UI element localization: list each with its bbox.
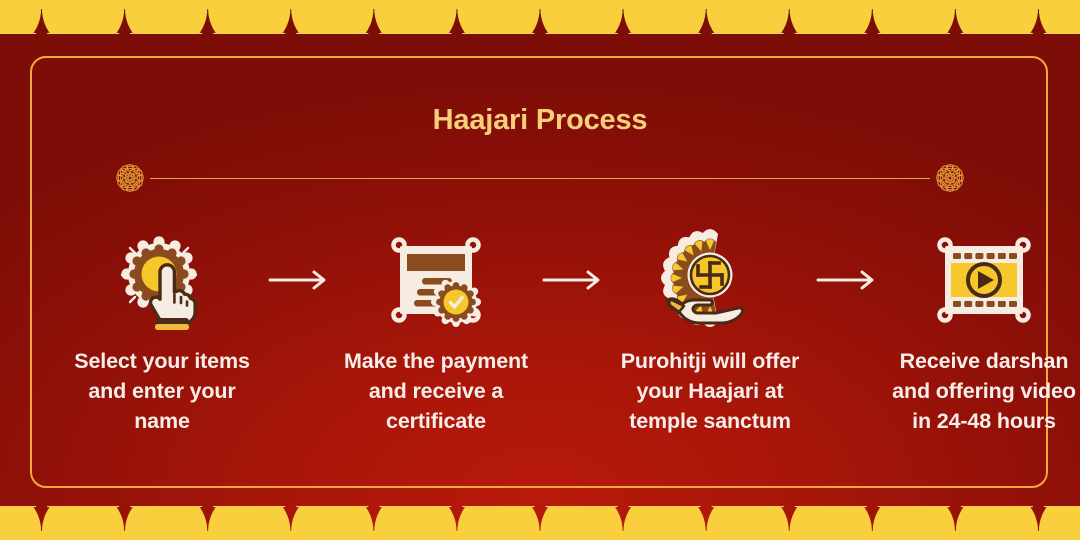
certificate-seal-icon [384, 228, 488, 332]
arrow-right-icon [264, 228, 334, 332]
step-2-label: Make the payment and receive a certifica… [344, 346, 528, 436]
bottom-scallop-border [0, 506, 1080, 540]
step-4-label: Receive darshan and offering video in 24… [892, 346, 1076, 436]
divider-rule [150, 178, 930, 179]
arrow-right-icon [812, 228, 882, 332]
step-3-label: Purohitji will offer your Haajari at tem… [621, 346, 800, 436]
step-3-purohitji-offering[interactable]: Purohitji will offer your Haajari at tem… [608, 228, 812, 436]
step-1-select-items[interactable]: Select your items and enter your name [60, 228, 264, 436]
mandala-icon [112, 160, 148, 196]
offering-hand-swastika-icon [658, 228, 762, 332]
step-4-receive-video[interactable]: Receive darshan and offering video in 24… [882, 228, 1080, 436]
hand-tap-select-icon [110, 228, 214, 332]
process-steps: Select your items and enter your name [60, 228, 1020, 436]
top-scallop-border [0, 0, 1080, 34]
arrow-right-icon [538, 228, 608, 332]
mandala-icon [932, 160, 968, 196]
step-1-label: Select your items and enter your name [74, 346, 250, 436]
page-title: Haajari Process [0, 104, 1080, 137]
step-2-payment-certificate[interactable]: Make the payment and receive a certifica… [334, 228, 538, 436]
infographic-canvas: Haajari Process [0, 0, 1080, 540]
video-film-play-icon [932, 228, 1036, 332]
ornamental-divider [112, 160, 968, 196]
